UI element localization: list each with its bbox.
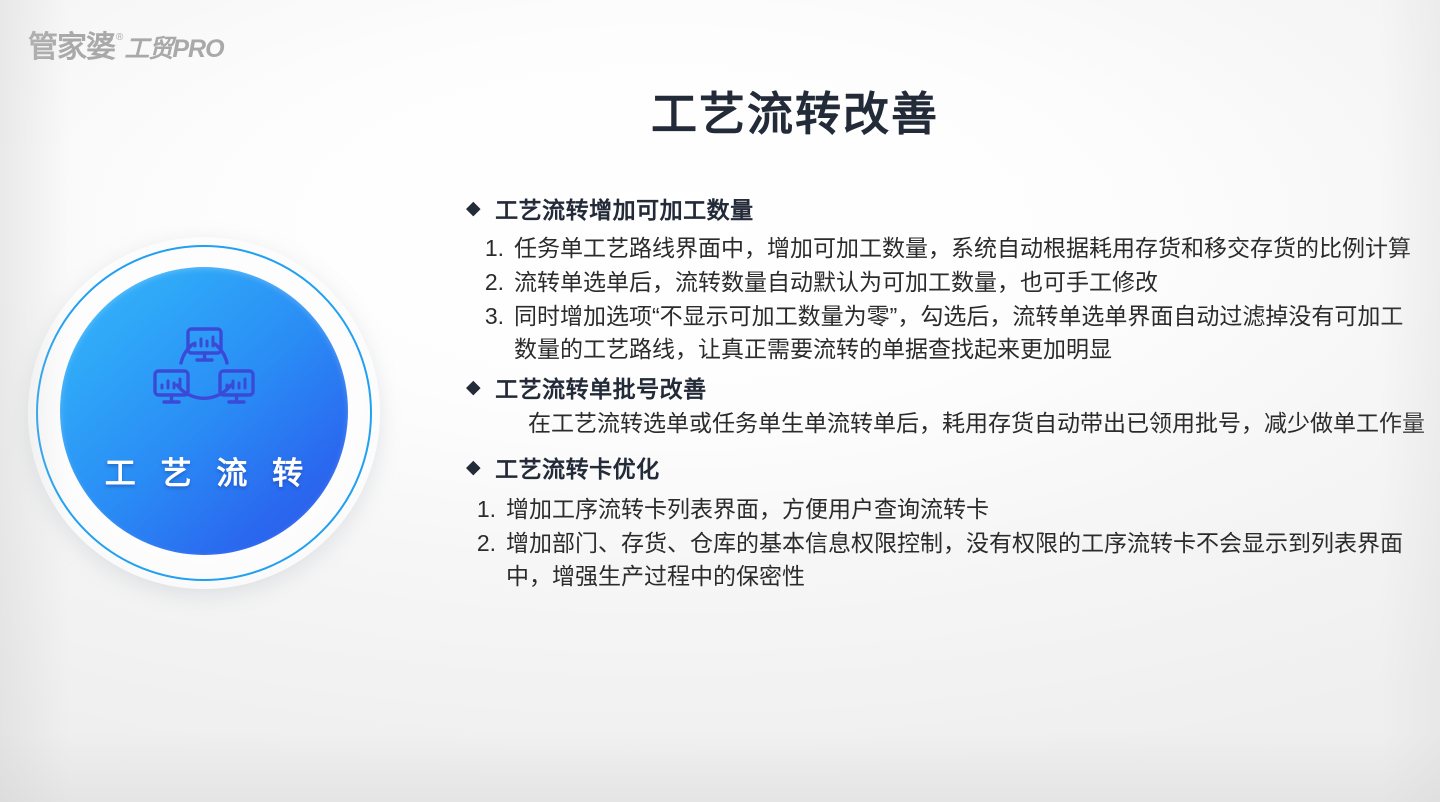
section-item-list: 1. 任务单工艺路线界面中，增加可加工数量，系统自动根据耗用存货和移交存货的比例… [466, 232, 1426, 366]
list-item: 1. 增加工序流转卡列表界面，方便用户查询流转卡 [466, 493, 1426, 526]
list-item-number: 2. [466, 527, 496, 593]
list-item-number: 2. [474, 266, 504, 299]
list-item-number: 3. [474, 300, 504, 366]
section-heading: ◆ 工艺流转增加可加工数量 [466, 197, 1426, 226]
list-item-number: 1. [474, 232, 504, 265]
list-item-text: 增加工序流转卡列表界面，方便用户查询流转卡 [506, 493, 1426, 526]
list-item-number: 1. [466, 493, 496, 526]
list-item: 2. 增加部门、存货、仓库的基本信息权限控制，没有权限的工序流转卡不会显示到列表… [466, 527, 1426, 593]
diamond-bullet-icon: ◆ [466, 376, 481, 400]
process-flow-badge: 工 艺 流 转 [28, 237, 380, 589]
logo-product-text: 工贸PRO [124, 37, 223, 62]
brand-logo: 管家婆 ® 工贸PRO [28, 33, 224, 63]
list-item: 1. 任务单工艺路线界面中，增加可加工数量，系统自动根据耗用存货和移交存货的比例… [474, 232, 1426, 265]
section-heading: ◆ 工艺流转单批号改善 [466, 376, 1426, 405]
list-item: 3. 同时增加选项“不显示可加工数量为零”，勾选后，流转单选单界面自动过滤掉没有… [474, 300, 1426, 366]
network-monitors-icon [148, 323, 260, 428]
section-heading-text: 工艺流转卡优化 [495, 456, 660, 485]
section-flow-card-optimization: ◆ 工艺流转卡优化 1. 增加工序流转卡列表界面，方便用户查询流转卡 2. 增加… [466, 456, 1426, 593]
section-heading-text: 工艺流转增加可加工数量 [495, 197, 754, 226]
list-item-text: 增加部门、存货、仓库的基本信息权限控制，没有权限的工序流转卡不会显示到列表界面中… [506, 527, 1426, 593]
section-batch-number-improvement: ◆ 工艺流转单批号改善 在工艺流转选单或任务单生单流转单后，耗用存货自动带出已领… [466, 376, 1426, 440]
registered-trademark-icon: ® [116, 33, 123, 43]
logo-brand-text: 管家婆 [28, 33, 115, 63]
content-column: ◆ 工艺流转增加可加工数量 1. 任务单工艺路线界面中，增加可加工数量，系统自动… [466, 197, 1426, 594]
diamond-bullet-icon: ◆ [466, 456, 481, 480]
page-title: 工艺流转改善 [0, 78, 1440, 144]
section-item-list: 1. 增加工序流转卡列表界面，方便用户查询流转卡 2. 增加部门、存货、仓库的基… [466, 493, 1426, 593]
section-heading: ◆ 工艺流转卡优化 [466, 456, 1426, 485]
badge-disc: 工 艺 流 转 [60, 267, 348, 555]
list-item-text: 任务单工艺路线界面中，增加可加工数量，系统自动根据耗用存货和移交存货的比例计算 [514, 232, 1426, 265]
section-process-flow-quantity: ◆ 工艺流转增加可加工数量 1. 任务单工艺路线界面中，增加可加工数量，系统自动… [466, 197, 1426, 366]
section-body-text: 在工艺流转选单或任务单生单流转单后，耗用存货自动带出已领用批号，减少做单工作量 [466, 407, 1426, 440]
badge-label: 工 艺 流 转 [98, 448, 310, 493]
slide-canvas: 管家婆 ® 工贸PRO 工艺流转改善 [0, 0, 1440, 802]
diamond-bullet-icon: ◆ [466, 197, 481, 221]
list-item-text: 同时增加选项“不显示可加工数量为零”，勾选后，流转单选单界面自动过滤掉没有可加工… [514, 300, 1426, 366]
section-heading-text: 工艺流转单批号改善 [495, 376, 707, 405]
list-item-text: 流转单选单后，流转数量自动默认为可加工数量，也可手工修改 [514, 266, 1426, 299]
list-item: 2. 流转单选单后，流转数量自动默认为可加工数量，也可手工修改 [474, 266, 1426, 299]
